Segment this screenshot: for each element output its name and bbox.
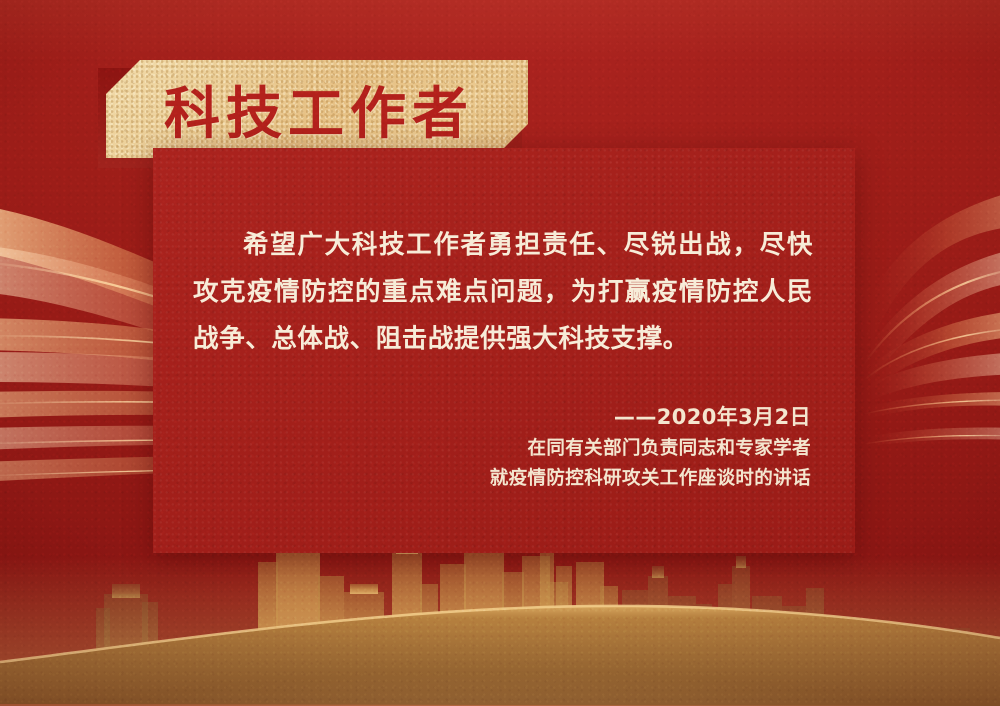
banner-title-text: 科技工作者 <box>160 69 474 150</box>
quote-card: 希望广大科技工作者勇担责任、尽锐出战，尽快攻克疫情防控的重点难点问题，为打赢疫情… <box>153 148 855 553</box>
skyline-right-center <box>540 550 618 676</box>
right-ribbon-group <box>862 190 1000 448</box>
attribution-occasion-line-1: 在同有关部门负责同志和专家学者 <box>490 434 811 464</box>
poster-root: 科技工作者 希望广大科技工作者勇担责任、尽锐出战，尽快攻克疫情防控的重点难点问题… <box>0 0 1000 706</box>
attribution-occasion-line-2: 就疫情防控科研攻关工作座谈时的讲话 <box>490 464 811 494</box>
skyline-far-right-cluster <box>622 556 824 676</box>
skyline-tail-cluster <box>840 624 990 692</box>
skyline-left-cluster <box>96 584 158 676</box>
banner-gold-shape: 科技工作者 <box>106 60 528 158</box>
quote-text: 希望广大科技工作者勇担责任、尽锐出战，尽快攻克疫情防控的重点难点问题，为打赢疫情… <box>193 222 813 363</box>
quote-attribution: ——2020年3月2日 在同有关部门负责同志和专家学者 就疫情防控科研攻关工作座… <box>490 400 811 494</box>
top-sheen <box>0 0 1000 60</box>
attribution-date: ——2020年3月2日 <box>490 400 811 434</box>
